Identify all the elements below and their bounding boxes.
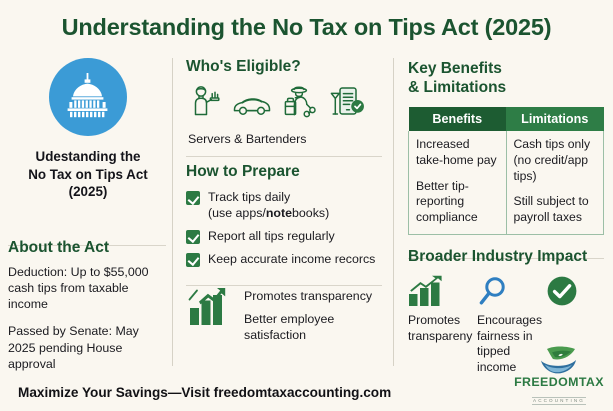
left-caption-line-1: Udestanding the — [8, 148, 168, 166]
bar-chart-arrow-up-icon — [408, 275, 470, 307]
prepare-item-1-line2-bold: note — [266, 206, 292, 220]
prepare-heading: How to Prepare — [186, 163, 386, 181]
key-benefits-heading: Key Benefits & Limitations — [408, 60, 606, 98]
prepare-item-2-text: Report all tips regularly — [208, 229, 335, 245]
right-column: Key Benefits & Limitations Benefits Limi… — [408, 60, 606, 376]
footer-cta: Maximize Your Savings—Visit freedomtaxac… — [18, 385, 391, 400]
list-item[interactable]: Track tips daily (use apps/notebooks) — [186, 190, 386, 222]
divider-middle-right — [393, 58, 394, 366]
key-benefits-heading-line-1: Key Benefits — [408, 60, 606, 79]
list-item[interactable]: Report all tips regularly — [186, 229, 386, 245]
how-to-prepare-section: How to Prepare Track tips daily (use app… — [186, 163, 386, 268]
waiter-server-icon — [188, 84, 222, 123]
page-title: Understanding the No Tax on Tips Act (20… — [0, 14, 613, 41]
employee-benefit-2: Better employee satisfaction — [244, 311, 386, 343]
logo-subtext: ACCOUNTING — [532, 397, 586, 405]
eligible-label: Servers & Bartenders — [186, 132, 386, 146]
left-caption-line-3: (2025) — [8, 183, 168, 201]
key-benefits-heading-line-2: & Limitations — [408, 79, 606, 98]
industry-impact-heading: Broader Industry Impact — [408, 248, 606, 266]
benefit-row-2: Better tip-reporting compliance — [416, 179, 499, 227]
about-heading: About the Act — [8, 239, 168, 257]
prepare-item-3-text: Keep accurate income recorcs — [208, 252, 375, 268]
leaf-swoosh-logo-icon — [511, 346, 607, 376]
impact-text-transparency: Promotes transpareny — [408, 313, 470, 344]
porter-bellhop-icon — [282, 84, 318, 123]
magnifying-glass-icon — [477, 275, 539, 307]
employee-benefits-section: Promotes transparency Better employee sa… — [186, 286, 386, 343]
about-item-deduction: Deduction: Up to $55,000 cash tips from … — [8, 264, 168, 312]
table-header-row: Benefits Limitations — [409, 107, 604, 131]
column-header-benefits: Benefits — [409, 107, 507, 131]
left-caption-line-2: No Tax on Tips Act — [8, 166, 168, 184]
limitation-row-2: Still subject to payroll taxes — [514, 194, 597, 226]
capitol-building-icon — [62, 71, 114, 124]
benefit-row-1: Increased take-home pay — [416, 137, 499, 169]
eligible-heading: Who's Eligible? — [186, 58, 386, 76]
employee-benefit-1: Promotes transparency — [244, 288, 386, 304]
column-header-limitations: Limitations — [506, 107, 604, 131]
about-the-act-section: About the Act Deduction: Up to $55,000 c… — [8, 239, 168, 372]
capitol-badge — [8, 58, 168, 136]
capitol-circle — [49, 58, 127, 136]
list-item[interactable]: Keep accurate income recorcs — [186, 252, 386, 268]
benefits-limitations-table: Benefits Limitations Increased take-home… — [408, 107, 604, 235]
table-row: Increased take-home pay Better tip-repor… — [409, 131, 604, 235]
prepare-item-1-line2-post: books) — [292, 206, 329, 220]
prepare-item-1-text: Track tips daily (use apps/notebooks) — [208, 190, 329, 222]
prepare-item-1-line2-pre: (use apps/ — [208, 206, 266, 220]
about-item-senate: Passed by Senate: May 2025 pending House… — [8, 323, 168, 371]
freedomtax-logo: FREEDOMTAX ACCOUNTING — [511, 346, 607, 407]
prepare-checklist: Track tips daily (use apps/notebooks) Re… — [186, 190, 386, 268]
mobile-payment-check-icon — [328, 84, 366, 123]
limitation-row-1: Cash tips only (no credit/app tips) — [514, 137, 597, 185]
check-circle-icon — [546, 275, 606, 307]
middle-column: Who's Eligible? — [186, 58, 386, 343]
bar-chart-growth-icon — [188, 286, 232, 331]
whos-eligible-section: Who's Eligible? — [186, 58, 386, 146]
logo-wordmark: FREEDOMTAX — [511, 375, 607, 389]
cell-limitations: Cash tips only (no credit/app tips) Stil… — [506, 131, 604, 235]
infographic-root: Understanding the No Tax on Tips Act (20… — [0, 0, 613, 411]
checkbox-checked-icon[interactable] — [186, 230, 200, 244]
left-column: Udestanding the No Tax on Tips Act (2025… — [8, 56, 168, 372]
divider-left-middle — [172, 58, 173, 366]
checkbox-checked-icon[interactable] — [186, 253, 200, 267]
employee-benefit-list: Promotes transparency Better employee sa… — [244, 286, 386, 343]
impact-item-transparency: Promotes transpareny — [408, 275, 470, 375]
cell-benefits: Increased take-home pay Better tip-repor… — [409, 131, 507, 235]
eligible-icon-row — [186, 84, 386, 123]
checkbox-checked-icon[interactable] — [186, 191, 200, 205]
car-rideshare-icon — [232, 90, 272, 123]
left-caption: Udestanding the No Tax on Tips Act (2025… — [8, 148, 168, 201]
prepare-item-1-line1: Track tips daily — [208, 190, 290, 204]
